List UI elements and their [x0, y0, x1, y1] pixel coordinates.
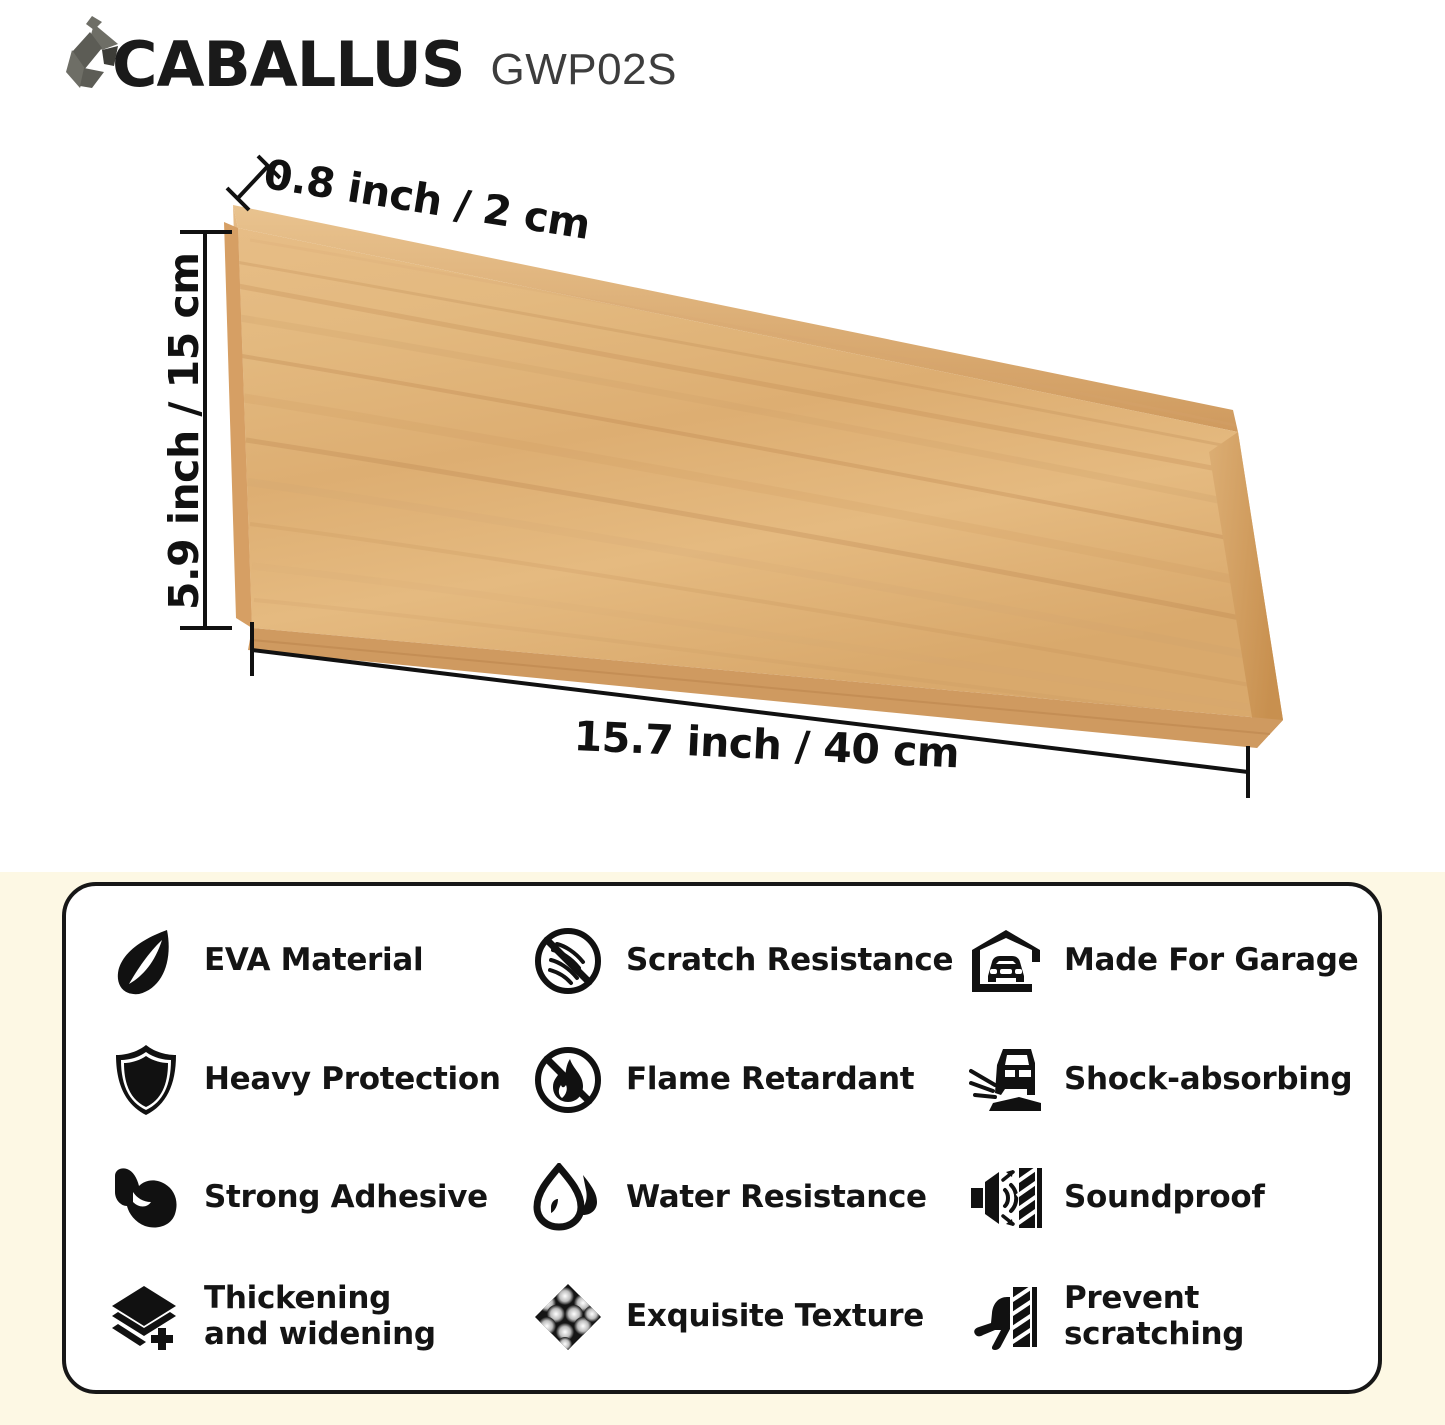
dimension-label-height: 5.9 inch / 15 cm [160, 252, 208, 610]
leaf-icon [108, 923, 184, 999]
product-hero-section: CABALLUS GWP02S 0.8 inch / 2 cm 5.9 inch… [0, 0, 1445, 872]
shield-icon [108, 1042, 184, 1118]
feature-item-strong-adhesive: Strong Adhesive [108, 1139, 530, 1258]
features-grid: EVA Material Scratch Resi [66, 886, 1378, 1390]
feature-item-soundproof: Soundproof [968, 1139, 1378, 1258]
feature-label: Prevent scratching [1064, 1281, 1378, 1353]
features-panel: EVA Material Scratch Resi [62, 882, 1382, 1394]
flexed-bicep-icon [108, 1160, 184, 1236]
feature-label: Water Resistance [626, 1180, 927, 1216]
feature-label: Heavy Protection [204, 1062, 501, 1098]
feature-label: Strong Adhesive [204, 1180, 488, 1216]
garage-car-icon [968, 923, 1044, 999]
feature-label: Exquisite Texture [626, 1299, 924, 1335]
feature-item-flame-retardant: Flame Retardant [530, 1021, 968, 1140]
diamond-texture-icon [530, 1279, 606, 1355]
no-flame-icon [530, 1042, 606, 1118]
layers-plus-icon [108, 1279, 184, 1355]
no-scratch-icon [530, 923, 606, 999]
feature-item-prevent-scratching: Prevent scratching [968, 1258, 1378, 1377]
brand-header: CABALLUS GWP02S [62, 8, 677, 88]
features-section: EVA Material Scratch Resi [0, 872, 1445, 1425]
feature-item-water-resistance: Water Resistance [530, 1139, 968, 1258]
feature-label: EVA Material [204, 943, 423, 979]
feature-label: Flame Retardant [626, 1062, 914, 1098]
chair-wall-icon [968, 1279, 1044, 1355]
feature-item-thickening-widening: Thickening and widening [108, 1258, 530, 1377]
feature-item-scratch-resistance: Scratch Resistance [530, 902, 968, 1021]
feature-item-shock-absorbing: Shock-absorbing [968, 1021, 1378, 1140]
speaker-wall-icon [968, 1160, 1044, 1236]
water-drop-icon [530, 1160, 606, 1236]
feature-item-heavy-protection: Heavy Protection [108, 1021, 530, 1140]
feature-item-exquisite-texture: Exquisite Texture [530, 1258, 968, 1377]
car-impact-icon [968, 1042, 1044, 1118]
model-code: GWP02S [491, 45, 677, 95]
feature-label: Thickening and widening [204, 1281, 454, 1353]
brand-name: CABALLUS [112, 34, 465, 96]
feature-label: Scratch Resistance [626, 943, 953, 979]
feature-label: Made For Garage [1064, 943, 1358, 979]
feature-label: Soundproof [1064, 1180, 1265, 1216]
feature-label: Shock-absorbing [1064, 1062, 1352, 1098]
feature-item-eva-material: EVA Material [108, 902, 530, 1021]
feature-item-made-for-garage: Made For Garage [968, 902, 1378, 1021]
